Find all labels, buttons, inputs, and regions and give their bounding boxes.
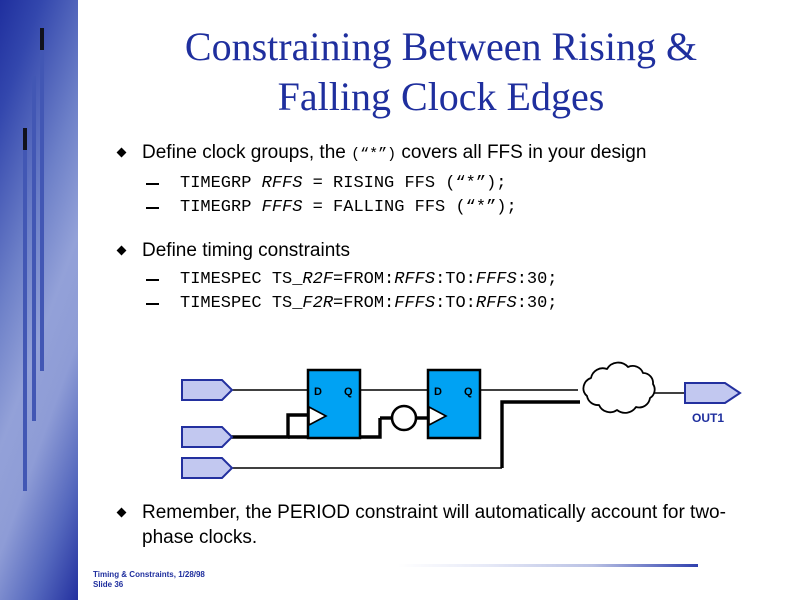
sub-1-1-em: RFFS (262, 174, 303, 193)
input-pin-1 (182, 380, 232, 400)
bullet-3: Remember, the PERIOD constraint will aut… (112, 500, 772, 550)
sub-1-2-post: = FALLING FFS (“*”); (302, 198, 516, 217)
sub-2-2-post2: :TO: (435, 294, 476, 313)
logic-cloud-icon (583, 363, 654, 413)
sub-1-2-pre: TIMEGRP (180, 198, 262, 217)
ff1-d-label: D (314, 386, 322, 398)
page-title-line-1: Constraining Between Rising & (96, 22, 786, 72)
sub-1-1-pre: TIMEGRP (180, 174, 262, 193)
sidebar-line-1 (23, 128, 27, 491)
sidebar-line-1-cap (23, 128, 27, 150)
sub-bullet-2-1: TIMESPEC TS_R2F=FROM:RFFS:TO:FFFS:30; (112, 268, 782, 292)
sub-2-1-post3: :30; (517, 270, 558, 289)
footer-line-2: Slide 36 (93, 580, 205, 590)
sub-2-2-em: F2R (302, 294, 333, 313)
bullet-1-sublist: TIMEGRP RFFS = RISING FFS (“*”); TIMEGRP… (112, 172, 782, 220)
sub-2-2-em3: RFFS (476, 294, 517, 313)
slide: Constraining Between Rising & Falling Cl… (0, 0, 800, 600)
sub-bullet-2-2: TIMESPEC TS_F2R=FROM:FFFS:TO:RFFS:30; (112, 292, 782, 316)
sub-2-1-post: =FROM: (333, 270, 394, 289)
sub-1-2-em: FFFS (262, 198, 303, 217)
sidebar-decoration (0, 0, 78, 600)
bullet-3-text: Remember, the PERIOD constraint will aut… (142, 502, 726, 548)
footer-line-1: Timing & Constraints, 1/28/98 (93, 570, 205, 580)
bullet-diamond-icon (117, 508, 127, 518)
sub-2-1-em3: FFFS (476, 270, 517, 289)
page-title-line-2: Falling Clock Edges (96, 72, 786, 122)
sub-bullet-1-2: TIMEGRP FFFS = FALLING FFS (“*”); (112, 196, 782, 220)
ff2-d-label: D (434, 386, 442, 398)
output-pin-out1: OUT1 (685, 383, 740, 425)
sub-2-2-post: =FROM: (333, 294, 394, 313)
circuit-diagram: D Q D Q OUT1 (180, 358, 750, 488)
sub-2-2-em2: FFFS (394, 294, 435, 313)
dash-icon (146, 207, 159, 209)
sub-2-1-em2: RFFS (394, 270, 435, 289)
flip-flop-2: D Q (428, 370, 480, 438)
ff1-q-label: Q (344, 386, 353, 398)
input-pin-2 (182, 427, 232, 447)
sidebar-line-3-cap (40, 28, 44, 50)
sub-2-1-pre: TIMESPEC TS_ (180, 270, 302, 289)
bullet-diamond-icon (117, 246, 127, 256)
sub-2-1-em: R2F (302, 270, 333, 289)
dash-icon (146, 279, 159, 281)
inverter-bubble-icon (392, 406, 416, 430)
sub-1-1-post: = RISING FFS (“*”); (302, 174, 506, 193)
ff2-q-label: Q (464, 386, 473, 398)
bullet-diamond-icon (117, 148, 127, 158)
flip-flop-1: D Q (308, 370, 360, 438)
dash-icon (146, 183, 159, 185)
bullet-1-text-after: covers all FFS in your design (396, 142, 646, 163)
input-pin-3 (182, 458, 232, 478)
bullet-2: Define timing constraints (112, 238, 782, 263)
sub-2-2-post3: :30; (517, 294, 558, 313)
bullet-1: Define clock groups, the (“*”) covers al… (112, 140, 782, 167)
bullet-block-1: Define clock groups, the (“*”) covers al… (112, 140, 782, 220)
bullet-2-sublist: TIMESPEC TS_R2F=FROM:RFFS:TO:FFFS:30; TI… (112, 268, 782, 316)
bullet-block-2: Define timing constraints TIMESPEC TS_R2… (112, 238, 782, 316)
dash-icon (146, 303, 159, 305)
footer-divider (398, 564, 698, 567)
bullet-block-3: Remember, the PERIOD constraint will aut… (112, 500, 772, 550)
page-title: Constraining Between Rising & Falling Cl… (96, 22, 786, 122)
sidebar-line-2 (32, 76, 36, 421)
sub-2-2-pre: TIMESPEC TS_ (180, 294, 302, 313)
output-pin-label: OUT1 (692, 411, 724, 425)
bullet-2-text: Define timing constraints (142, 240, 350, 261)
sidebar-line-3 (40, 28, 44, 371)
bullet-1-code: (“*”) (351, 146, 396, 163)
sub-bullet-1-1: TIMEGRP RFFS = RISING FFS (“*”); (112, 172, 782, 196)
sub-2-1-post2: :TO: (435, 270, 476, 289)
footer: Timing & Constraints, 1/28/98 Slide 36 (93, 570, 205, 590)
bullet-1-text-before: Define clock groups, the (142, 142, 351, 163)
